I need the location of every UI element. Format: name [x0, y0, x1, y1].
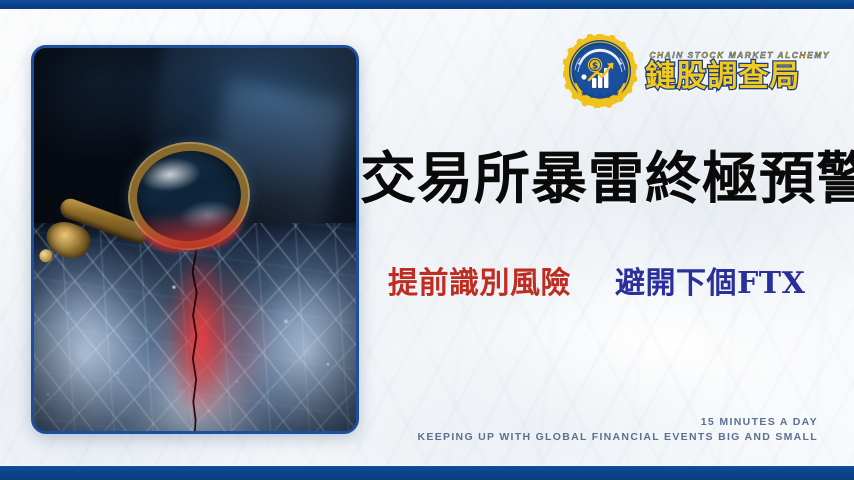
- photo-vignette: [34, 48, 356, 431]
- brand-chinese-name: 鏈股調查局: [645, 61, 800, 92]
- tagline-line-2: KEEPING UP WITH GLOBAL FINANCIAL EVENTS …: [418, 430, 818, 446]
- svg-text:$: $: [592, 62, 598, 72]
- top-bar-hairline: [0, 9, 854, 10]
- circular-seal-badge-icon: $: [563, 34, 637, 108]
- subtitle-left: 提前識別風險: [388, 258, 571, 302]
- top-navy-bar: [0, 0, 854, 9]
- subtitle-right: 避開下個FTX: [615, 258, 805, 302]
- poster-canvas: $ CHAIN STOCK MARKET ALCH: [0, 0, 854, 480]
- tagline-line-1: 15 MINUTES A DAY: [418, 415, 818, 431]
- footer-tagline: 15 MINUTES A DAY KEEPING UP WITH GLOBAL …: [418, 415, 818, 447]
- brand-logo-lockup[interactable]: $ CHAIN STOCK MARKET ALCH: [563, 34, 830, 108]
- bottom-bar-hairline: [0, 465, 854, 466]
- brand-wordmark: CHAIN STOCK MARKET ALCHEMY 鏈股調查局: [645, 50, 830, 92]
- subtitle-row: 提前識別風險 避開下個FTX: [388, 258, 805, 302]
- bottom-navy-bar: [0, 466, 854, 480]
- feature-image-panel: [31, 45, 359, 434]
- page-title: 交易所暴雷終極預警: [360, 150, 854, 209]
